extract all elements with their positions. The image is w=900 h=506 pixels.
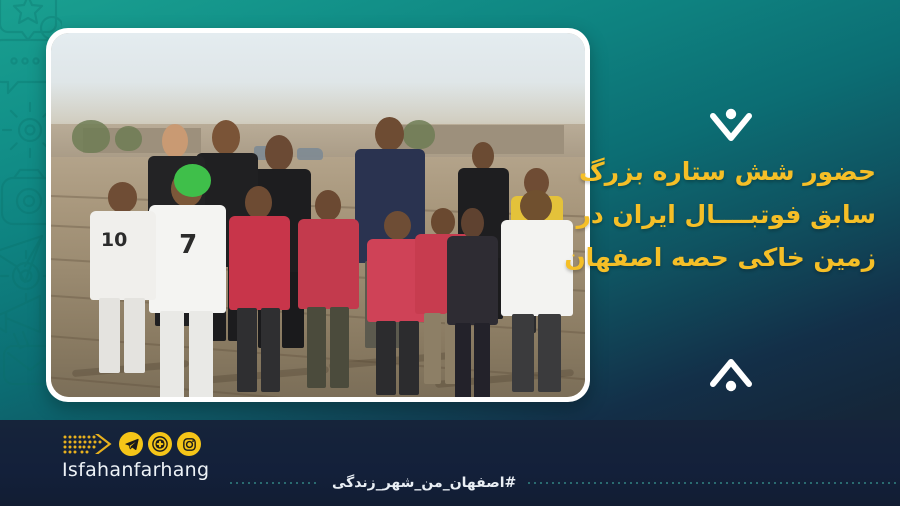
poster-canvas: 7 10 bbox=[0, 0, 900, 506]
photo-person-child: 7 bbox=[147, 171, 227, 397]
ornament-top-wrap bbox=[586, 108, 876, 142]
photo-tree bbox=[72, 120, 109, 153]
aparat-icon[interactable] bbox=[148, 432, 172, 456]
telegram-glyph bbox=[124, 437, 139, 452]
photo-image: 7 10 bbox=[51, 33, 585, 397]
hashtag-text[interactable]: #اصفهان_من_شهر_زندگی bbox=[322, 475, 526, 491]
instagram-icon[interactable] bbox=[177, 432, 201, 456]
ornament-bottom-wrap bbox=[586, 358, 876, 392]
photo-person-child bbox=[227, 186, 291, 390]
chevron-down-dot-icon bbox=[708, 108, 754, 142]
paper-plane-icon bbox=[0, 236, 42, 282]
hashtag-row: #اصفهان_من_شهر_زندگی bbox=[0, 472, 900, 494]
photo-person-child bbox=[297, 190, 361, 387]
photo-person-child bbox=[500, 190, 575, 390]
photo-tree bbox=[115, 126, 142, 151]
headline-line-1: حضور شش ستاره بزرگ bbox=[586, 150, 876, 193]
target-eye-icon bbox=[1, 251, 51, 301]
dot-rule-right bbox=[526, 481, 900, 485]
chevron-up-dot-icon bbox=[708, 358, 754, 392]
dot-rule-middle bbox=[228, 481, 318, 485]
megaphone-icon bbox=[0, 296, 40, 348]
photo-person-child: 10 bbox=[88, 182, 157, 371]
headline-line-3: زمین خاکی حصه اصفهان bbox=[586, 236, 876, 279]
headline-line-2: سابق فوتبــــال ایران در bbox=[586, 193, 876, 236]
footer-bar: Isfahanfarhang #اصفهان_من_شهر_زندگی bbox=[0, 420, 900, 506]
photo-person-child bbox=[446, 208, 499, 397]
aparat-glyph bbox=[152, 436, 168, 452]
telegram-icon[interactable] bbox=[119, 432, 143, 456]
photo-green-marker bbox=[174, 164, 211, 197]
social-row bbox=[62, 432, 209, 456]
star-badge-icon bbox=[0, 0, 56, 40]
headline-block: حضور شش ستاره بزرگ سابق فوتبــــال ایران… bbox=[586, 150, 876, 279]
instagram-glyph bbox=[182, 437, 197, 452]
double-chevron-dotted-logo bbox=[62, 433, 114, 455]
photo-card: 7 10 bbox=[46, 28, 590, 402]
